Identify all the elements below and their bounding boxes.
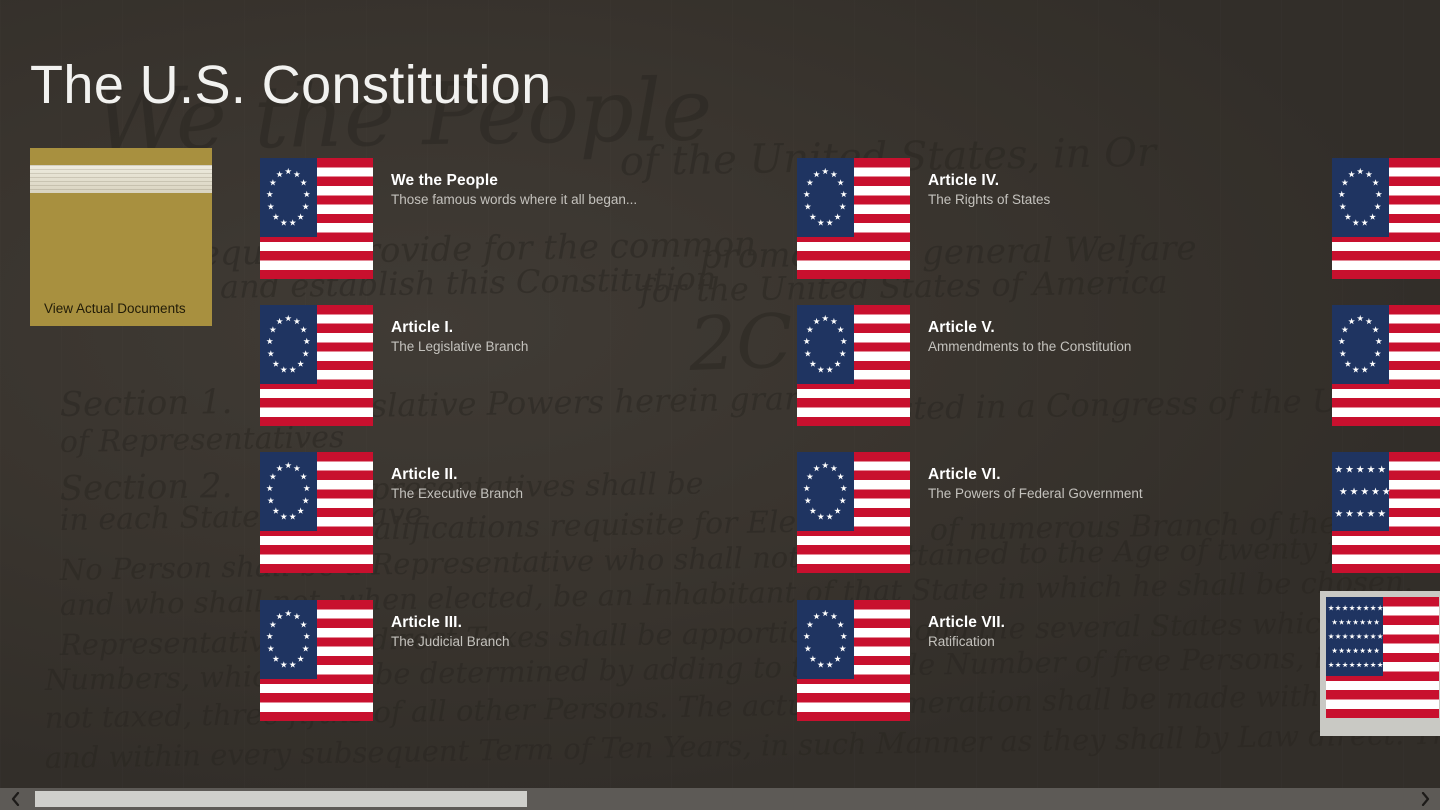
flag-star-icon bbox=[1360, 648, 1366, 654]
flag-star-icon bbox=[1328, 605, 1334, 611]
list-item-title: Article II. bbox=[391, 466, 458, 483]
flag-star-icon bbox=[822, 315, 829, 322]
flag-star-icon bbox=[285, 168, 292, 175]
betsy-ross-flag-icon bbox=[260, 452, 373, 573]
flag-star-icon bbox=[297, 507, 304, 514]
scrollbar-track[interactable] bbox=[30, 788, 1410, 810]
flag-star-icon bbox=[300, 179, 307, 186]
flag-star-icon bbox=[1361, 219, 1368, 226]
scroll-left-arrow-icon[interactable] bbox=[0, 788, 30, 810]
flag-star-icon bbox=[1356, 605, 1362, 611]
flag-star-icon bbox=[1346, 619, 1352, 625]
flag-star-icon bbox=[1367, 510, 1375, 518]
list-item-subtitle: The Powers of Federal Government bbox=[928, 486, 1143, 501]
flag-star-icon bbox=[276, 171, 283, 178]
flag-star-icon bbox=[1346, 510, 1354, 518]
view-actual-documents-tile[interactable]: View Actual Documents bbox=[30, 148, 212, 326]
flag-star-icon bbox=[830, 171, 837, 178]
flag-star-icon bbox=[272, 507, 279, 514]
flag-star-icon bbox=[1370, 662, 1376, 668]
fifteen-star-flag-icon bbox=[1332, 452, 1440, 573]
flag-star-icon bbox=[266, 191, 273, 198]
flag-star-icon bbox=[837, 179, 844, 186]
list-item-selected[interactable] bbox=[1320, 591, 1440, 736]
flag-star-icon bbox=[1361, 366, 1368, 373]
flag-star-icon bbox=[1370, 633, 1376, 639]
constitution-app: We the People of the United States, in O… bbox=[0, 0, 1440, 810]
flag-star-icon bbox=[285, 610, 292, 617]
flag-star-icon bbox=[809, 360, 816, 367]
flag-star-icon bbox=[817, 513, 824, 520]
flag-star-icon bbox=[1361, 487, 1369, 495]
page-title: The U.S. Constitution bbox=[30, 54, 552, 116]
flag-star-icon bbox=[806, 473, 813, 480]
flag-star-icon bbox=[276, 465, 283, 472]
flag-star-icon bbox=[1339, 619, 1345, 625]
flag-star-icon bbox=[1370, 605, 1376, 611]
flag-star-icon bbox=[302, 497, 309, 504]
flag-star-icon bbox=[289, 219, 296, 226]
flag-star-icon bbox=[1338, 191, 1345, 198]
flag-star-icon bbox=[1372, 487, 1380, 495]
flag-star-icon bbox=[1367, 465, 1375, 473]
flag-star-icon bbox=[300, 326, 307, 333]
flag-star-icon bbox=[1372, 326, 1379, 333]
list-item[interactable]: We the People Those famous words where i… bbox=[260, 158, 505, 288]
flag-star-icon bbox=[1378, 510, 1386, 518]
flag-star-icon bbox=[804, 645, 811, 652]
flag-star-icon bbox=[837, 326, 844, 333]
flag-star-icon bbox=[285, 462, 292, 469]
flag-star-icon bbox=[1369, 213, 1376, 220]
flag-star-icon bbox=[297, 655, 304, 662]
list-item[interactable]: Article VI. The Powers of Federal Govern… bbox=[797, 452, 1042, 582]
flag-star-icon bbox=[293, 318, 300, 325]
flag-star-icon bbox=[822, 462, 829, 469]
flag-star-icon bbox=[267, 350, 274, 357]
flag-star-icon bbox=[280, 661, 287, 668]
flag-star-icon bbox=[840, 338, 847, 345]
flag-star-icon bbox=[302, 350, 309, 357]
flag-star-icon bbox=[834, 655, 841, 662]
flag-star-icon bbox=[826, 366, 833, 373]
flag-star-icon bbox=[266, 338, 273, 345]
scroll-right-arrow-icon[interactable] bbox=[1410, 788, 1440, 810]
flag-star-icon bbox=[1375, 191, 1382, 198]
flag-star-icon bbox=[1339, 203, 1346, 210]
parchment-strip-icon bbox=[30, 165, 212, 193]
flag-star-icon bbox=[1332, 619, 1338, 625]
flag-star-icon bbox=[813, 613, 820, 620]
flag-star-icon bbox=[803, 633, 810, 640]
flag-star-icon bbox=[1356, 662, 1362, 668]
flag-star-icon bbox=[1357, 168, 1364, 175]
list-item-title: Article VI. bbox=[928, 466, 1001, 483]
flag-star-icon bbox=[1377, 662, 1383, 668]
betsy-ross-flag-icon bbox=[1332, 305, 1440, 426]
flag-star-icon bbox=[297, 360, 304, 367]
flag-star-icon bbox=[303, 485, 310, 492]
flag-star-icon bbox=[297, 213, 304, 220]
flag-star-icon bbox=[1353, 619, 1359, 625]
flag-star-icon bbox=[837, 621, 844, 628]
flag-star-icon bbox=[1328, 662, 1334, 668]
flag-star-icon bbox=[1365, 171, 1372, 178]
horizontal-scrollbar[interactable] bbox=[0, 788, 1440, 810]
list-item[interactable]: Article III. The Judicial Branch bbox=[260, 600, 505, 730]
flag-star-icon bbox=[272, 213, 279, 220]
flag-star-icon bbox=[804, 203, 811, 210]
list-item[interactable]: Article IV. The Rights of States bbox=[797, 158, 1042, 288]
flag-star-icon bbox=[1342, 633, 1348, 639]
flag-star-icon bbox=[809, 507, 816, 514]
betsy-ross-flag-icon bbox=[797, 158, 910, 279]
flag-star-icon bbox=[826, 513, 833, 520]
list-item-subtitle: Those famous words where it all began... bbox=[391, 192, 637, 207]
list-item-subtitle: The Executive Branch bbox=[391, 486, 523, 501]
betsy-ross-flag-icon bbox=[260, 600, 373, 721]
betsy-ross-flag-icon bbox=[797, 452, 910, 573]
flag-star-icon bbox=[840, 633, 847, 640]
flag-star-icon bbox=[1377, 605, 1383, 611]
flag-star-icon bbox=[289, 661, 296, 668]
list-item[interactable]: Article V. Ammendments to the Constituti… bbox=[797, 305, 1042, 435]
flag-star-icon bbox=[822, 168, 829, 175]
flag-star-icon bbox=[1348, 318, 1355, 325]
flag-star-icon bbox=[1374, 203, 1381, 210]
flag-star-icon bbox=[1332, 648, 1338, 654]
flag-star-icon bbox=[804, 497, 811, 504]
flag-star-icon bbox=[303, 633, 310, 640]
flag-star-icon bbox=[1356, 633, 1362, 639]
flag-star-icon bbox=[285, 315, 292, 322]
list-item-title: Article V. bbox=[928, 319, 995, 336]
flag-star-icon bbox=[1335, 510, 1343, 518]
list-item[interactable] bbox=[1332, 452, 1440, 582]
flag-star-icon bbox=[817, 661, 824, 668]
list-item-title: Article IV. bbox=[928, 172, 999, 189]
flag-star-icon bbox=[1357, 315, 1364, 322]
flag-star-icon bbox=[803, 485, 810, 492]
flag-star-icon bbox=[1360, 619, 1366, 625]
flag-star-icon bbox=[1328, 633, 1334, 639]
flag-star-icon bbox=[1339, 487, 1347, 495]
flag-star-icon bbox=[806, 621, 813, 628]
betsy-ross-flag-icon bbox=[260, 305, 373, 426]
flag-star-icon bbox=[266, 485, 273, 492]
flag-star-icon bbox=[1365, 318, 1372, 325]
flag-star-icon bbox=[1363, 633, 1369, 639]
flag-star-icon bbox=[269, 473, 276, 480]
flag-star-icon bbox=[813, 465, 820, 472]
list-item-subtitle: Ratification bbox=[928, 634, 995, 649]
flag-star-icon bbox=[289, 513, 296, 520]
flag-star-icon bbox=[280, 366, 287, 373]
flag-star-icon bbox=[1375, 338, 1382, 345]
flag-star-icon bbox=[276, 613, 283, 620]
flag-star-icon bbox=[1342, 605, 1348, 611]
betsy-ross-flag-icon bbox=[260, 158, 373, 279]
flag-star-icon bbox=[1335, 465, 1343, 473]
flag-star-icon bbox=[1338, 338, 1345, 345]
flag-star-icon bbox=[1344, 360, 1351, 367]
list-item-subtitle: Ammendments to the Constitution bbox=[928, 339, 1131, 354]
flag-star-icon bbox=[1353, 648, 1359, 654]
flag-star-icon bbox=[834, 507, 841, 514]
betsy-ross-flag-icon bbox=[797, 600, 910, 721]
flag-star-icon bbox=[300, 473, 307, 480]
flag-star-icon bbox=[813, 171, 820, 178]
flag-star-icon bbox=[809, 655, 816, 662]
flag-star-icon bbox=[834, 360, 841, 367]
flag-star-icon bbox=[1356, 510, 1364, 518]
flag-star-icon bbox=[269, 179, 276, 186]
flag-star-icon bbox=[839, 645, 846, 652]
flag-star-icon bbox=[1344, 213, 1351, 220]
list-item[interactable]: Article II. The Executive Branch bbox=[260, 452, 505, 582]
flag-star-icon bbox=[1363, 605, 1369, 611]
flag-star-icon bbox=[1352, 366, 1359, 373]
list-item[interactable] bbox=[1332, 305, 1440, 435]
flag-star-icon bbox=[830, 465, 837, 472]
flag-star-icon bbox=[1335, 662, 1341, 668]
flag-star-icon bbox=[293, 465, 300, 472]
list-item-subtitle: The Judicial Branch bbox=[391, 634, 510, 649]
flag-star-icon bbox=[1374, 648, 1380, 654]
flag-star-icon bbox=[830, 613, 837, 620]
flag-star-icon bbox=[826, 661, 833, 668]
flag-star-icon bbox=[1349, 662, 1355, 668]
flag-star-icon bbox=[809, 213, 816, 220]
flag-star-icon bbox=[300, 621, 307, 628]
flag-star-icon bbox=[813, 318, 820, 325]
flag-star-icon bbox=[267, 497, 274, 504]
flag-star-icon bbox=[1348, 171, 1355, 178]
flag-star-icon bbox=[806, 326, 813, 333]
betsy-ross-flag-icon bbox=[797, 305, 910, 426]
flag-star-icon bbox=[280, 513, 287, 520]
flag-star-icon bbox=[817, 219, 824, 226]
flag-star-icon bbox=[1369, 360, 1376, 367]
flag-star-icon bbox=[1341, 326, 1348, 333]
scrollbar-thumb[interactable] bbox=[35, 791, 527, 807]
flag-star-icon bbox=[840, 191, 847, 198]
flag-star-icon bbox=[1372, 179, 1379, 186]
list-item[interactable]: Article VII. Ratification bbox=[797, 600, 1042, 730]
flag-star-icon bbox=[804, 350, 811, 357]
flag-star-icon bbox=[289, 366, 296, 373]
flag-star-icon bbox=[803, 191, 810, 198]
list-item-subtitle: The Legislative Branch bbox=[391, 339, 528, 354]
flag-star-icon bbox=[1346, 648, 1352, 654]
flag-star-icon bbox=[1356, 465, 1364, 473]
flag-star-icon bbox=[1349, 605, 1355, 611]
flag-star-icon bbox=[1367, 619, 1373, 625]
flag-star-icon bbox=[1374, 619, 1380, 625]
flag-star-icon bbox=[293, 613, 300, 620]
flag-star-icon bbox=[1377, 633, 1383, 639]
flag-star-icon bbox=[834, 213, 841, 220]
content-grid: View Actual Documents We the People Thos… bbox=[0, 148, 1440, 748]
flag-star-icon bbox=[806, 179, 813, 186]
flag-star-icon bbox=[1350, 487, 1358, 495]
flag-star-icon bbox=[272, 360, 279, 367]
flag-star-icon bbox=[1335, 633, 1341, 639]
flag-star-icon bbox=[839, 350, 846, 357]
flag-star-icon bbox=[817, 366, 824, 373]
flag-star-icon bbox=[837, 473, 844, 480]
flag-star-icon bbox=[269, 621, 276, 628]
flag-star-icon bbox=[269, 326, 276, 333]
flag-star-icon bbox=[840, 485, 847, 492]
flag-star-icon bbox=[267, 645, 274, 652]
flag-star-icon bbox=[293, 171, 300, 178]
flag-star-icon bbox=[826, 219, 833, 226]
flag-star-icon bbox=[302, 645, 309, 652]
flag-star-icon bbox=[830, 318, 837, 325]
flag-star-icon bbox=[303, 338, 310, 345]
flag-star-icon bbox=[303, 191, 310, 198]
list-item-title: Article III. bbox=[391, 614, 462, 631]
flag-star-icon bbox=[1378, 465, 1386, 473]
list-item-title: Article VII. bbox=[928, 614, 1005, 631]
flag-star-icon bbox=[267, 203, 274, 210]
flag-star-icon bbox=[276, 318, 283, 325]
flag-star-icon bbox=[1374, 350, 1381, 357]
flag-star-icon bbox=[803, 338, 810, 345]
flag-star-icon bbox=[1339, 350, 1346, 357]
betsy-ross-flag-icon bbox=[1332, 158, 1440, 279]
flag-star-icon bbox=[822, 610, 829, 617]
list-item[interactable] bbox=[1332, 158, 1440, 288]
flag-star-icon bbox=[839, 203, 846, 210]
flag-star-icon bbox=[1342, 662, 1348, 668]
flag-star-icon bbox=[272, 655, 279, 662]
list-item-title: Article I. bbox=[391, 319, 453, 336]
flag-star-icon bbox=[280, 219, 287, 226]
flag-star-icon bbox=[1339, 648, 1345, 654]
flag-star-icon bbox=[1367, 648, 1373, 654]
thirty-star-flag-icon bbox=[1326, 597, 1439, 718]
flag-star-icon bbox=[266, 633, 273, 640]
flag-star-icon bbox=[1341, 179, 1348, 186]
flag-star-icon bbox=[1363, 662, 1369, 668]
flag-star-icon bbox=[1349, 633, 1355, 639]
list-item-subtitle: The Rights of States bbox=[928, 192, 1050, 207]
list-item[interactable]: Article I. The Legislative Branch bbox=[260, 305, 505, 435]
flag-star-icon bbox=[1335, 605, 1341, 611]
flag-star-icon bbox=[839, 497, 846, 504]
view-actual-documents-label: View Actual Documents bbox=[44, 301, 186, 316]
flag-star-icon bbox=[302, 203, 309, 210]
flag-star-icon bbox=[1346, 465, 1354, 473]
flag-star-icon bbox=[1352, 219, 1359, 226]
list-item-title: We the People bbox=[391, 172, 498, 189]
